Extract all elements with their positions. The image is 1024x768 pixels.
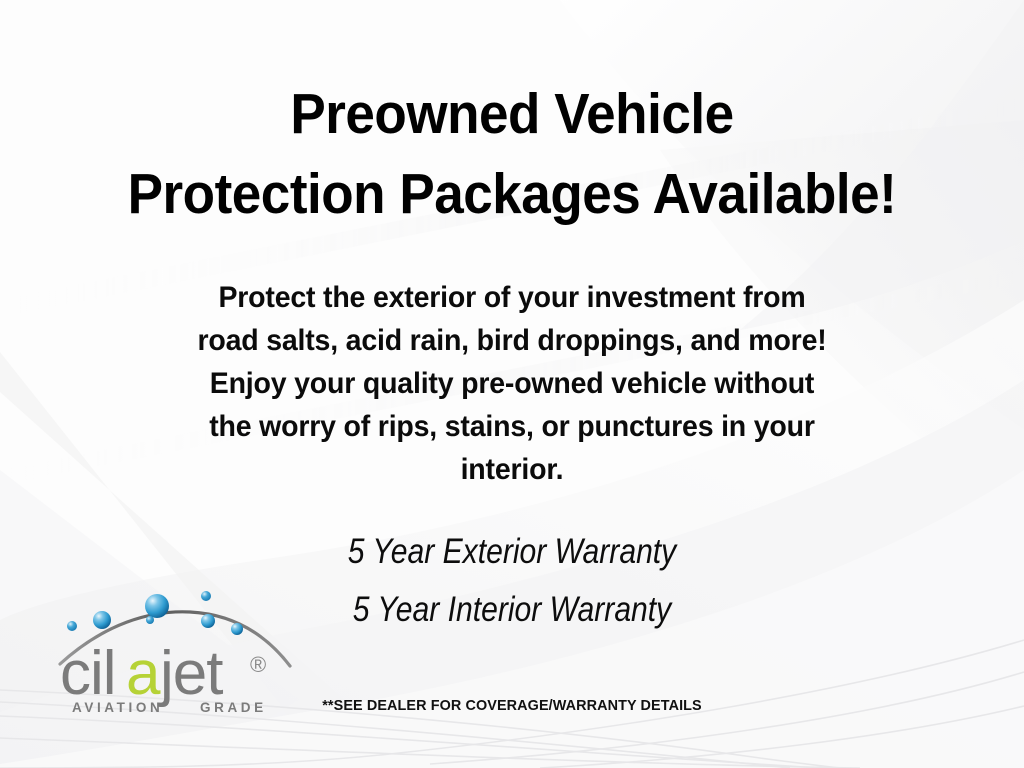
body-copy: Protect the exterior of your investment … — [26, 276, 999, 491]
logo-word-part-1: cil — [60, 639, 116, 708]
slide-content: Preowned Vehicle Protection Packages Ava… — [0, 0, 1024, 768]
slide-canvas: Preowned Vehicle Protection Packages Ava… — [0, 0, 1024, 768]
bubble-icon — [67, 621, 77, 631]
bubble-icon — [201, 614, 215, 628]
logo-word-part-2: jet — [158, 639, 223, 708]
registered-trademark-icon: ® — [250, 652, 266, 677]
bubble-icon — [146, 616, 154, 624]
logo-tagline-right: GRADE — [200, 700, 267, 713]
bubble-icon — [231, 623, 243, 635]
page-title: Preowned Vehicle Protection Packages Ava… — [36, 74, 988, 234]
logo-tagline-left: AVIATION — [72, 700, 163, 713]
bubble-icon — [93, 611, 111, 629]
warranty-exterior-text: 5 Year Exterior Warranty — [72, 533, 953, 571]
bubble-icon — [145, 594, 169, 618]
logo-word-accent: a — [126, 639, 161, 708]
logo-bubbles — [67, 591, 243, 635]
bubble-icon — [201, 591, 211, 601]
cilajet-logo: cil a jet ® AVIATION GRADE — [58, 578, 298, 713]
